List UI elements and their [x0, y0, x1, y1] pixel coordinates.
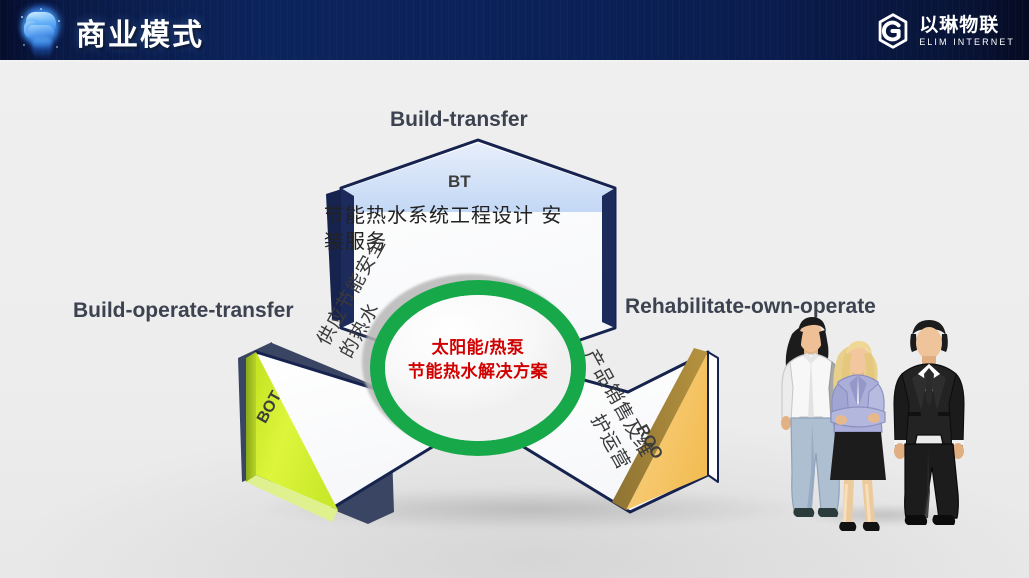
elim-g-logo-icon [875, 13, 911, 49]
center-text-line2: 节能热水解决方案 [370, 360, 586, 384]
logo-cn-name: 以琳物联 [919, 16, 1015, 35]
page-title: 商业模式 [76, 10, 204, 54]
caption-build-transfer: Build-transfer [390, 108, 528, 132]
center-text-line1: 太阳能/热泵 [370, 336, 586, 360]
business-model-diagram: BT BOT ROO 节能热水系统工程设计 安装服务 供应节能安全 的热水 产品… [208, 130, 748, 530]
roo-hex-rim [708, 352, 718, 482]
slide-header: 商业模式 以琳物联 ELIM INTERNET [0, 0, 1029, 62]
logo-en-name: ELIM INTERNET [919, 38, 1015, 47]
fist-icon [10, 0, 72, 62]
hex-tag-bt: BT [448, 172, 471, 192]
person-right [894, 320, 964, 525]
center-ring: 太阳能/热泵 节能热水解决方案 [370, 280, 586, 456]
slide-canvas: 商业模式 以琳物联 ELIM INTERNET Build-transfer B… [0, 0, 1029, 578]
bt-hex-right-bevel [602, 188, 615, 328]
brand-logo: 以琳物联 ELIM INTERNET [875, 9, 1015, 53]
three-business-people-illustration [766, 310, 996, 532]
center-ring-text: 太阳能/热泵 节能热水解决方案 [370, 336, 586, 384]
